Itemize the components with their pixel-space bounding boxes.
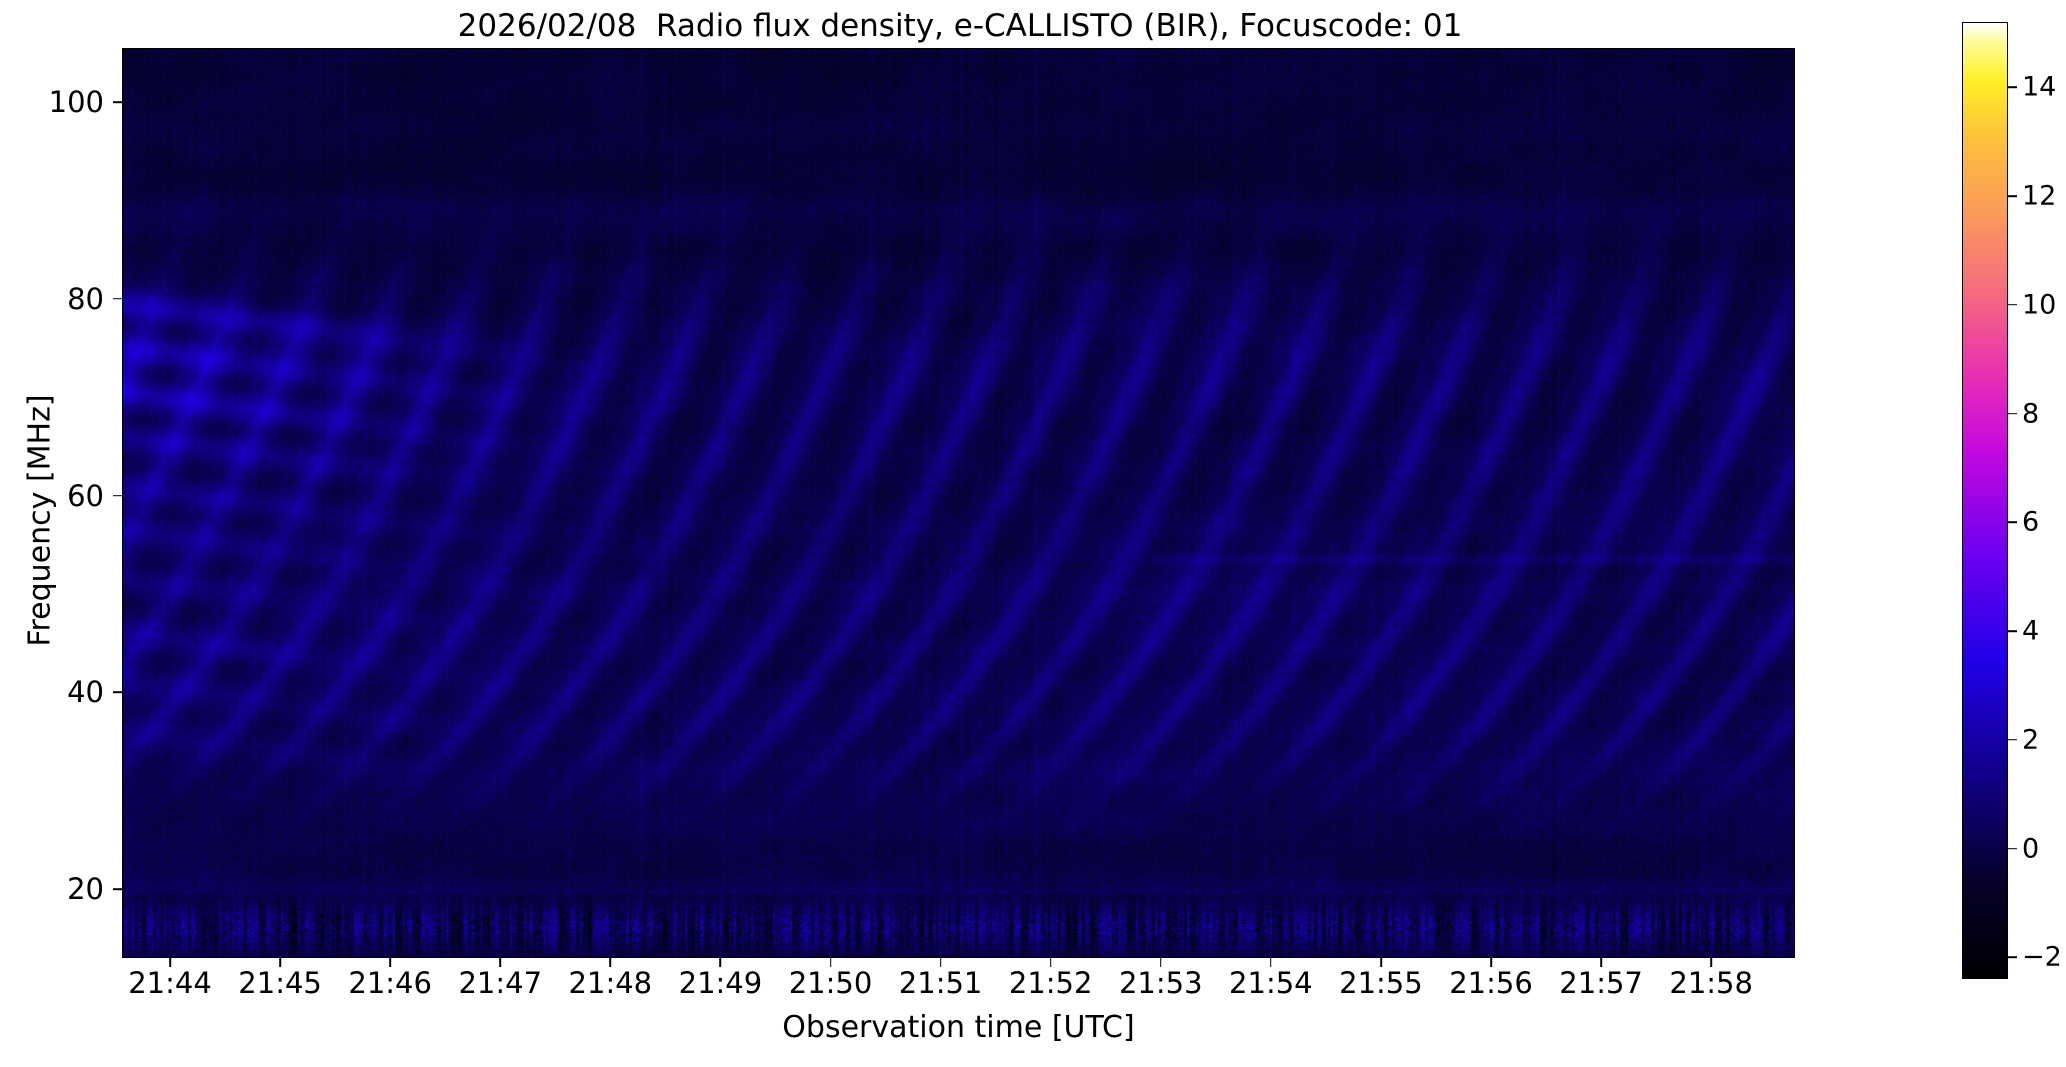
colorbar-tick-mark	[2008, 86, 2017, 88]
x-tick-label: 21:56	[1449, 966, 1533, 1000]
x-tick-label: 21:45	[238, 966, 322, 1000]
x-tick-label: 21:52	[1009, 966, 1093, 1000]
x-tick-label: 21:55	[1339, 966, 1423, 1000]
x-tick-label: 21:53	[1119, 966, 1203, 1000]
colorbar-gradient	[1963, 23, 2007, 978]
colorbar-tick-label: −2	[2022, 942, 2062, 973]
colorbar-tick-label: 10	[2022, 289, 2056, 320]
colorbar-tick-mark	[2008, 304, 2017, 306]
spectrogram-image	[123, 49, 1794, 957]
x-tick-label: 21:51	[899, 966, 983, 1000]
spectrogram-axes	[122, 48, 1795, 958]
x-tick-label: 21:47	[458, 966, 542, 1000]
y-tick-label: 100	[49, 85, 104, 119]
colorbar-tick-label: 4	[2022, 616, 2039, 647]
x-tick-label: 21:48	[569, 966, 653, 1000]
colorbar-tick-mark	[2008, 521, 2017, 523]
x-tick-label: 21:46	[348, 966, 432, 1000]
colorbar-tick-label: 8	[2022, 398, 2039, 429]
x-axis-label: Observation time [UTC]	[122, 1010, 1795, 1045]
x-tick-label: 21:44	[128, 966, 212, 1000]
y-tick-mark	[113, 298, 122, 300]
x-tick-label: 21:54	[1229, 966, 1313, 1000]
y-tick-label: 40	[67, 675, 104, 709]
colorbar-tick-label: 6	[2022, 507, 2039, 538]
y-tick-label: 20	[67, 872, 104, 906]
y-tick-mark	[113, 888, 122, 890]
colorbar-tick-label: 2	[2022, 724, 2039, 755]
colorbar-tick-label: 14	[2022, 72, 2056, 103]
colorbar-tick-mark	[2008, 413, 2017, 415]
figure-canvas: 2026/02/08 Radio flux density, e-CALLIST…	[0, 0, 2066, 1067]
colorbar-tick-mark	[2008, 630, 2017, 632]
colorbar-tick-mark	[2008, 739, 2017, 741]
colorbar-tick-label: 0	[2022, 833, 2039, 864]
y-tick-mark	[113, 692, 122, 694]
y-axis-label: Frequency [MHz]	[23, 311, 58, 731]
chart-title: 2026/02/08 Radio flux density, e-CALLIST…	[0, 8, 1920, 44]
y-tick-mark	[113, 495, 122, 497]
x-tick-label: 21:58	[1669, 966, 1753, 1000]
x-tick-label: 21:50	[789, 966, 873, 1000]
y-tick-mark	[113, 101, 122, 103]
colorbar-tick-label: 12	[2022, 181, 2056, 212]
colorbar-axes	[1962, 22, 2008, 979]
colorbar-tick-mark	[2008, 195, 2017, 197]
y-tick-label: 60	[67, 479, 104, 513]
y-tick-label: 80	[67, 282, 104, 316]
x-tick-label: 21:49	[679, 966, 763, 1000]
colorbar-tick-mark	[2008, 848, 2017, 850]
colorbar-tick-mark	[2008, 956, 2017, 958]
x-tick-label: 21:57	[1559, 966, 1643, 1000]
